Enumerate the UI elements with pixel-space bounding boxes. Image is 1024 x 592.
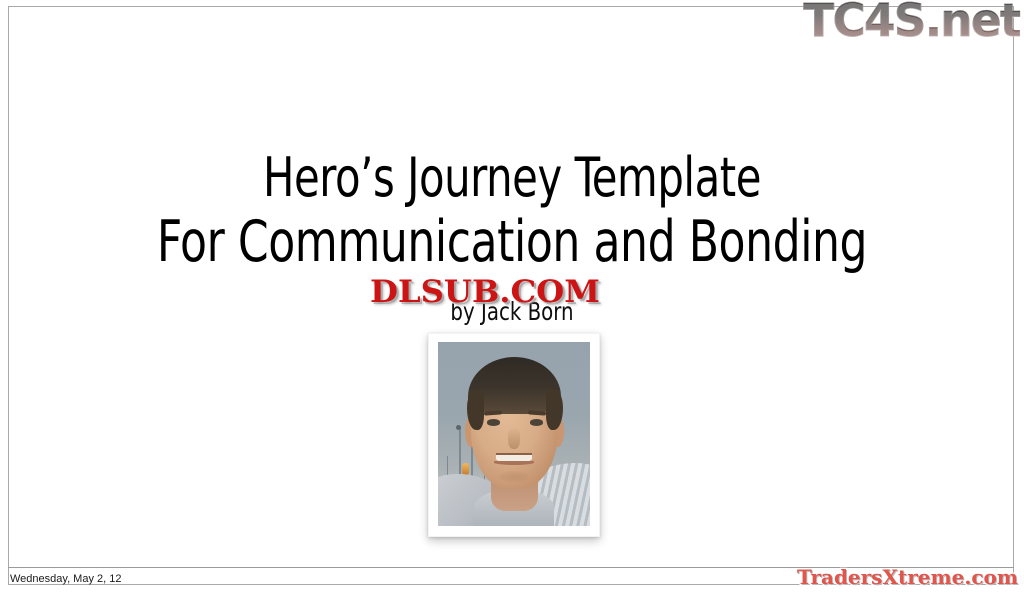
dlsub-watermark: DLSUB.COM xyxy=(370,277,600,308)
footer-date: Wednesday, May 2, 12 xyxy=(10,572,122,586)
footer-brand-logo: TradersXtreme.com xyxy=(797,566,1018,588)
photo-eye-right xyxy=(530,419,543,425)
slide-root: TC4S.net Hero’s Journey Template For Com… xyxy=(0,0,1024,592)
page-title: Hero’s Journey Template For Communicatio… xyxy=(0,146,1024,274)
photo-chin xyxy=(499,471,529,482)
title-line-1: Hero’s Journey Template xyxy=(72,146,953,210)
title-line-2: For Communication and Bonding xyxy=(72,210,953,274)
portrait-photo xyxy=(438,342,590,526)
tc4s-logo: TC4S.net xyxy=(803,0,1020,43)
photo-eye-left xyxy=(487,419,500,425)
photo-nose xyxy=(508,427,520,449)
photo-hair-side-left xyxy=(467,390,484,430)
portrait-photo-frame xyxy=(428,333,600,537)
